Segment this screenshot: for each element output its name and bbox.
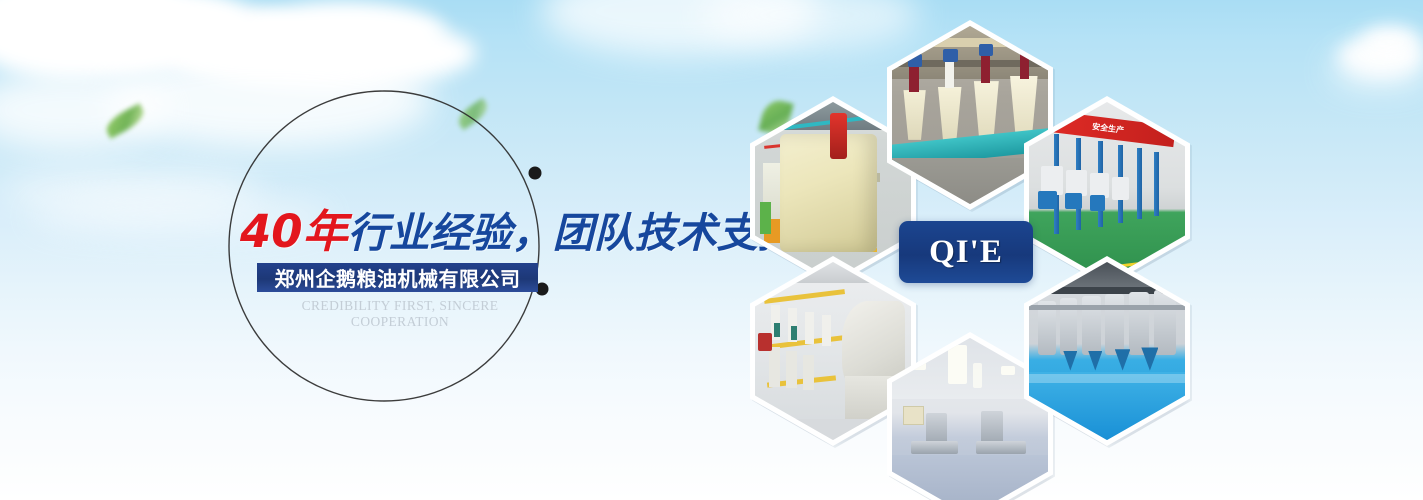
cloud-decoration	[1330, 52, 1423, 88]
safety-banner: 安全生产	[1041, 110, 1177, 148]
cloud-decoration	[1362, 26, 1420, 58]
company-name-bar: 郑州企鹅粮油机械有限公司	[257, 263, 538, 292]
ring-dot	[529, 167, 542, 180]
company-name: 郑州企鹅粮油机械有限公司	[275, 263, 521, 292]
headline-block: 40年行业经验，团队技术支持 郑州企鹅粮油机械有限公司 CREDIBILITY …	[0, 0, 700, 500]
brand-logo-badge[interactable]: QI'E	[899, 221, 1033, 283]
headline-years: 40年	[240, 205, 348, 258]
headline-rest: 行业经验，团队技术支持	[348, 209, 799, 257]
tagline: CREDIBILITY FIRST, SINCERE COOPERATION	[265, 298, 535, 330]
promo-banner: 40年行业经验，团队技术支持 郑州企鹅粮油机械有限公司 CREDIBILITY …	[0, 0, 1423, 500]
safety-banner-text: 安全生产	[1092, 121, 1125, 136]
page-title: 40年行业经验，团队技术支持	[240, 209, 799, 254]
cloud-decoration	[1338, 36, 1423, 76]
brand-logo-text: QI'E	[929, 234, 1003, 271]
